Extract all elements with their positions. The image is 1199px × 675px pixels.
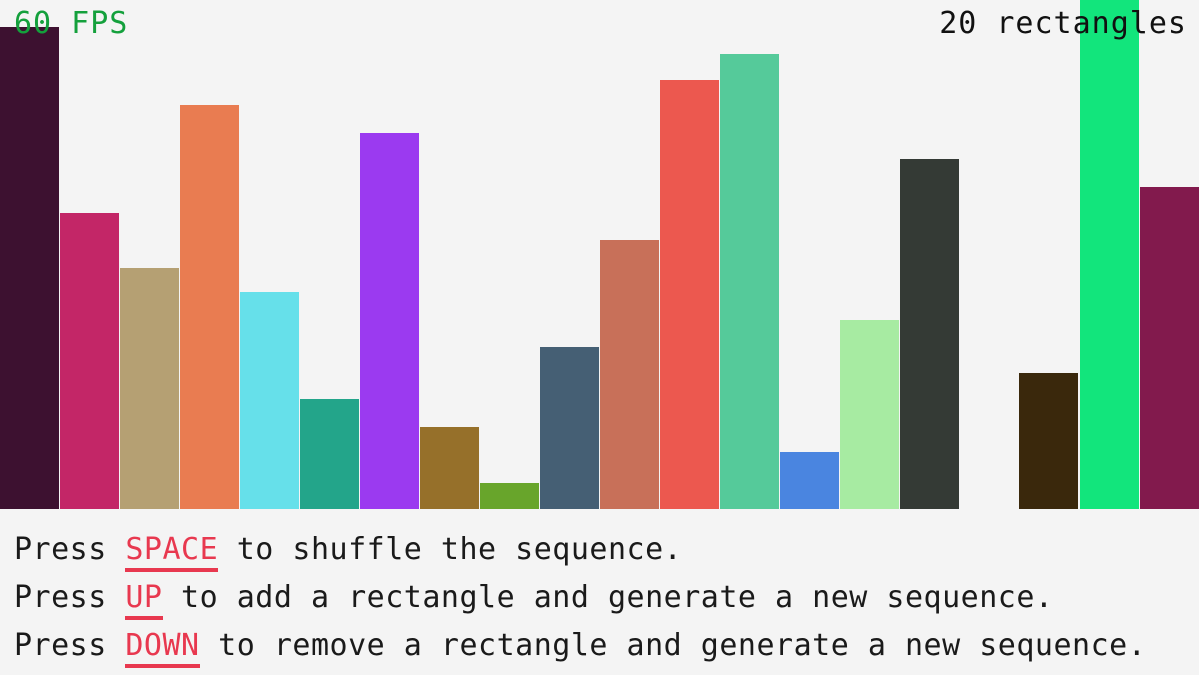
bar-purple xyxy=(360,133,419,509)
bar-charcoal xyxy=(900,159,959,509)
bar-tan xyxy=(120,268,179,509)
bar-dark-brown xyxy=(1019,373,1078,509)
instruction-prefix: Press xyxy=(14,580,125,615)
instruction-line-1: Press SPACE to shuffle the sequence. xyxy=(14,526,1199,574)
bar-royal-blue xyxy=(780,452,839,509)
bar-red xyxy=(660,80,719,509)
key-badge-up[interactable]: UP xyxy=(125,580,162,620)
bar-green xyxy=(480,483,539,509)
fps-counter: 60 FPS xyxy=(14,9,128,39)
bar-orange xyxy=(180,105,239,509)
bar-brown xyxy=(420,427,479,509)
bar-magenta xyxy=(60,213,119,509)
app-root: 60 FPS 20 rectangles Press SPACE to shuf… xyxy=(0,0,1199,675)
instruction-suffix: to shuffle the sequence. xyxy=(218,532,682,567)
key-badge-space[interactable]: SPACE xyxy=(125,532,218,572)
bar-rose xyxy=(600,240,659,509)
instruction-line-2: Press UP to add a rectangle and generate… xyxy=(14,574,1199,622)
instruction-suffix: to add a rectangle and generate a new se… xyxy=(163,580,1054,615)
rectangle-count-label: 20 rectangles xyxy=(939,9,1187,39)
bar-slate-blue xyxy=(540,347,599,509)
instructions-panel: Press SPACE to shuffle the sequence.Pres… xyxy=(0,509,1199,675)
rectangle-sequence-canvas[interactable] xyxy=(0,0,1199,509)
bar-emerald xyxy=(720,54,779,509)
bar-spring-green xyxy=(1080,0,1139,509)
key-badge-down[interactable]: DOWN xyxy=(125,628,199,668)
bar-dark-magenta xyxy=(1140,187,1199,509)
bar-cyan xyxy=(240,292,299,509)
instruction-prefix: Press xyxy=(14,628,125,663)
bar-dark-purple xyxy=(0,27,59,509)
bar-light-green xyxy=(840,320,899,509)
instruction-suffix: to remove a rectangle and generate a new… xyxy=(200,628,1147,663)
instruction-prefix: Press xyxy=(14,532,125,567)
bar-teal xyxy=(300,399,359,509)
instruction-line-3: Press DOWN to remove a rectangle and gen… xyxy=(14,622,1199,670)
